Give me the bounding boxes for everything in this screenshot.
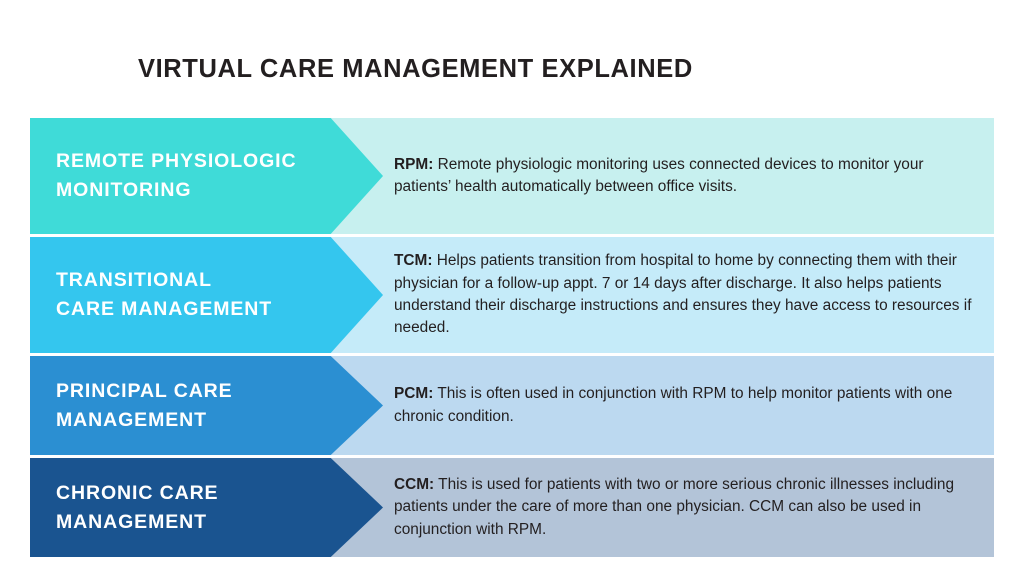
row-label: CHRONIC CARE MANAGEMENT [30, 479, 228, 537]
row-arrow-shape: REMOTE PHYSIOLOGIC MONITORING [30, 118, 383, 234]
care-row-rpm: REMOTE PHYSIOLOGIC MONITORING RPM: Remot… [30, 118, 994, 234]
row-label-line1: REMOTE PHYSIOLOGIC [56, 150, 296, 172]
row-arrow-shape: PRINCIPAL CARE MANAGEMENT [30, 356, 383, 455]
row-label-line2: MANAGEMENT [56, 511, 207, 533]
row-description-text: Remote physiologic monitoring uses conne… [394, 156, 924, 195]
care-row-ccm: CHRONIC CARE MANAGEMENT CCM: This is use… [30, 458, 994, 557]
row-label-line2: MANAGEMENT [56, 409, 207, 431]
row-abbreviation: PCM: [394, 385, 433, 402]
care-row-pcm: PRINCIPAL CARE MANAGEMENT PCM: This is o… [30, 356, 994, 455]
row-label: TRANSITIONAL CARE MANAGEMENT [30, 266, 282, 324]
row-arrow-shape: CHRONIC CARE MANAGEMENT [30, 458, 383, 557]
row-label: PRINCIPAL CARE MANAGEMENT [30, 377, 243, 435]
row-abbreviation: CCM: [394, 476, 434, 493]
row-label-line1: CHRONIC CARE [56, 482, 218, 504]
row-description: RPM: Remote physiologic monitoring uses … [394, 118, 994, 234]
row-description: CCM: This is used for patients with two … [394, 458, 994, 557]
row-label: REMOTE PHYSIOLOGIC MONITORING [30, 147, 306, 205]
row-label-line2: MONITORING [56, 179, 191, 201]
row-label-line1: PRINCIPAL CARE [56, 380, 233, 402]
row-abbreviation: TCM: [394, 252, 432, 269]
row-abbreviation: RPM: [394, 156, 433, 173]
row-description-text: Helps patients transition from hospital … [394, 252, 971, 336]
row-arrow-shape: TRANSITIONAL CARE MANAGEMENT [30, 237, 383, 353]
care-row-tcm: TRANSITIONAL CARE MANAGEMENT TCM: Helps … [30, 237, 994, 353]
row-description: TCM: Helps patients transition from hosp… [394, 237, 994, 353]
row-label-line2: CARE MANAGEMENT [56, 298, 272, 320]
infographic-page: VIRTUAL CARE MANAGEMENT EXPLAINED REMOTE… [0, 0, 1024, 576]
care-management-rows: REMOTE PHYSIOLOGIC MONITORING RPM: Remot… [30, 118, 994, 560]
row-description: PCM: This is often used in conjunction w… [394, 356, 994, 455]
row-label-line1: TRANSITIONAL [56, 269, 212, 291]
row-description-text: This is often used in conjunction with R… [394, 385, 952, 424]
row-description-text: This is used for patients with two or mo… [394, 476, 954, 538]
page-title: VIRTUAL CARE MANAGEMENT EXPLAINED [138, 55, 693, 84]
